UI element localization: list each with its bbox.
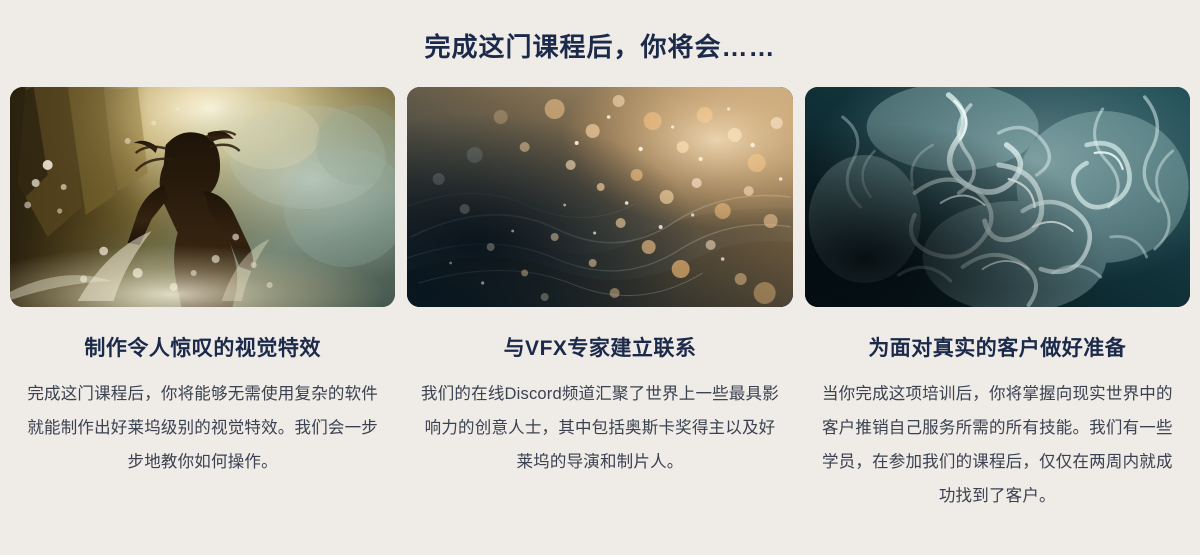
- benefit-card: 为面对真实的客户做好准备 当你完成这项培训后，你将掌握向现实世界中的客户推销自己…: [805, 87, 1190, 513]
- vfx-water-splash-silhouette-image: [10, 87, 395, 307]
- benefit-card-description: 完成这门课程后，你将能够无需使用复杂的软件就能制作出好莱坞级别的视觉特效。我们会…: [10, 378, 395, 479]
- benefit-card-description: 我们的在线Discord频道汇聚了世界上一些最具影响力的创意人士，其中包括奥斯卡…: [407, 378, 792, 479]
- benefit-card: 与VFX专家建立联系 我们的在线Discord频道汇聚了世界上一些最具影响力的创…: [407, 87, 792, 480]
- section-heading: 完成这门课程后，你将会……: [0, 0, 1200, 63]
- course-benefits-section: 完成这门课程后，你将会……: [0, 0, 1200, 555]
- vfx-golden-particles-bokeh-image: [407, 87, 792, 307]
- benefit-card-title: 与VFX专家建立联系: [504, 336, 697, 361]
- benefit-cards-row: 制作令人惊叹的视觉特效 完成这门课程后，你将能够无需使用复杂的软件就能制作出好莱…: [0, 87, 1200, 513]
- benefit-card-description: 当你完成这项培训后，你将掌握向现实世界中的客户推销自己服务所需的所有技能。我们有…: [805, 378, 1190, 513]
- benefit-card-title: 为面对真实的客户做好准备: [868, 336, 1126, 361]
- vfx-teal-smoke-swirl-image: [805, 87, 1190, 307]
- benefit-card: 制作令人惊叹的视觉特效 完成这门课程后，你将能够无需使用复杂的软件就能制作出好莱…: [10, 87, 395, 480]
- benefit-card-title: 制作令人惊叹的视觉特效: [84, 336, 321, 361]
